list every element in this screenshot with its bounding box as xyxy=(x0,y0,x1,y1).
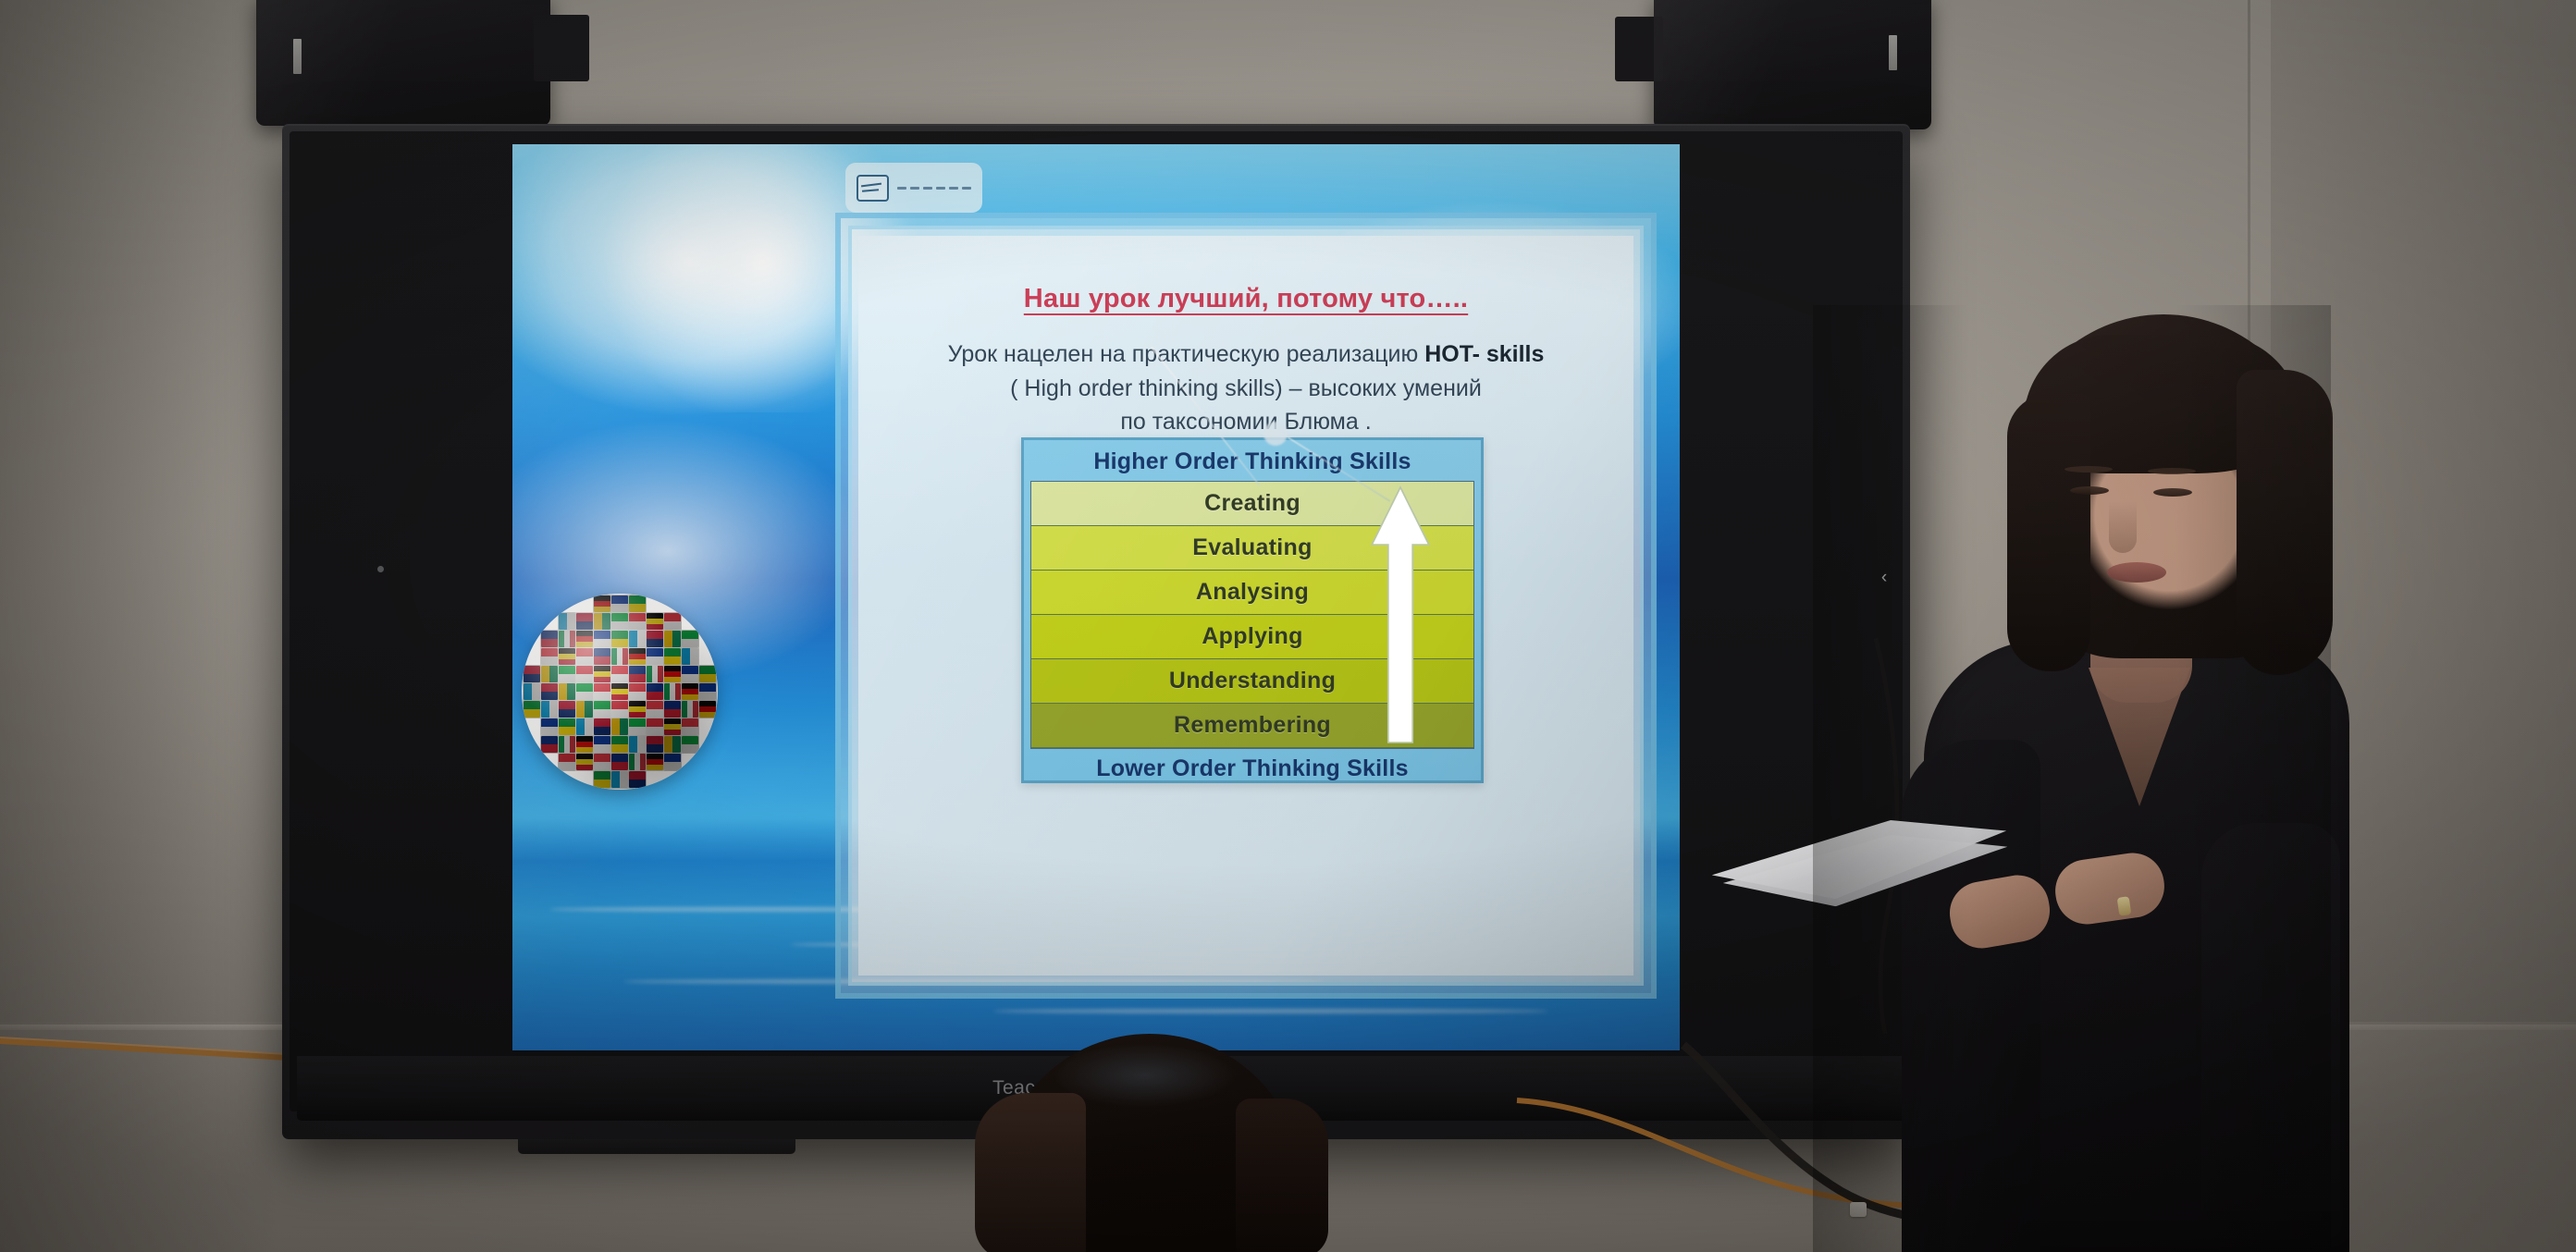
presenter-hair-left xyxy=(2007,394,2090,671)
wave-line xyxy=(993,1009,1548,1013)
logo-text-dashes xyxy=(897,187,971,190)
wall-shadow-left xyxy=(0,0,277,1252)
presentation-slide: Наш урок лучший, потому что….. Урок наце… xyxy=(512,144,1680,1050)
presenter-brow-left xyxy=(2064,466,2113,473)
presenter-nose xyxy=(2109,501,2137,553)
student-hair-left xyxy=(975,1093,1086,1252)
slide-title: Наш урок лучший, потому что….. xyxy=(858,284,1633,314)
display-indicator-dot xyxy=(377,566,384,572)
student-hair-right xyxy=(1236,1099,1328,1252)
upward-arrow-icon xyxy=(1370,485,1431,744)
globe-flag-tiles xyxy=(522,594,718,790)
pyramid-level-label: Applying xyxy=(1202,623,1302,650)
speaker-left-sheen xyxy=(256,0,550,126)
presenter-arm-right xyxy=(2201,823,2340,1211)
logo-mark-icon xyxy=(857,175,889,202)
slide-content-panel: Наш урок лучший, потому что….. Урок наце… xyxy=(835,213,1657,999)
speaker-right xyxy=(1654,0,1931,129)
presenter-eye-right xyxy=(2153,488,2192,497)
world-flags-globe-icon xyxy=(522,594,718,790)
presenter-figure xyxy=(1813,305,2331,1252)
slide-body-line-2: ( High order thinking skills) – высоких … xyxy=(890,372,1602,406)
pyramid-level-label: Remembering xyxy=(1174,712,1331,739)
pyramid-level-label: Understanding xyxy=(1169,668,1336,694)
screenshot-root: Наш урок лучший, потому что….. Урок наце… xyxy=(0,0,2576,1252)
slide-body-line-3: по таксономии Блюма . xyxy=(890,405,1602,439)
slide-panel-inner: Наш урок лучший, потому что….. Урок наце… xyxy=(858,236,1633,976)
slide-body-hot-skills: HOT- skills xyxy=(1424,341,1544,367)
presenter-ring xyxy=(2117,896,2132,916)
pyramid-levels: Creating Evaluating Analysing xyxy=(1030,481,1474,749)
presenter-brow-right xyxy=(2148,468,2196,474)
pyramid-level-label: Analysing xyxy=(1196,579,1309,606)
speaker-left xyxy=(256,0,550,126)
display-mount-foot xyxy=(518,1139,795,1154)
student-figure xyxy=(969,1034,1339,1252)
display-screen[interactable]: Наш урок лучший, потому что….. Урок наце… xyxy=(512,144,1680,1050)
pyramid-level-label: Creating xyxy=(1204,490,1300,517)
blooms-taxonomy-diagram: Higher Order Thinking Skills Creating Ev… xyxy=(1021,437,1484,783)
slide-body-text: Урок нацелен на практическую реализацию … xyxy=(890,338,1602,439)
speaker-right-sheen xyxy=(1654,0,1931,129)
display-bezel-inner: Наш урок лучший, потому что….. Урок наце… xyxy=(290,131,1903,1111)
slide-logo-badge xyxy=(845,163,982,213)
student-hair-sheen xyxy=(1053,1043,1238,1108)
interactive-display[interactable]: Наш урок лучший, потому что….. Урок наце… xyxy=(282,124,1910,1139)
presenter-hair-right xyxy=(2237,370,2333,675)
pointer-reflection-bulb xyxy=(1263,422,1288,446)
slide-body-line-1-pre: Урок нацелен на практическую реализацию xyxy=(948,341,1425,367)
pyramid-footer-label: Lower Order Thinking Skills xyxy=(1030,749,1474,784)
pyramid-level-label: Evaluating xyxy=(1192,534,1312,561)
slide-panel-border-mid: Наш урок лучший, потому что….. Урок наце… xyxy=(848,226,1644,986)
slide-body-line-1: Урок нацелен на практическую реализацию … xyxy=(890,338,1602,372)
presenter-mouth xyxy=(2107,562,2166,583)
presenter-eye-left xyxy=(2070,486,2109,495)
